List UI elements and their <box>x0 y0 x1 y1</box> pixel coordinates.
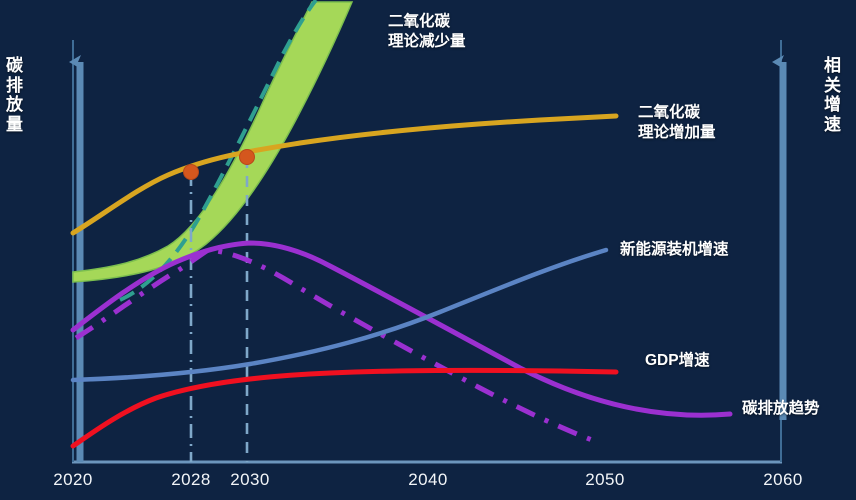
y-axis-left-label: 碳排放量 <box>6 56 23 135</box>
y-axis-right-label: 相关增速 <box>824 56 841 135</box>
annotation-co2-increase: 二氧化碳 理论增加量 <box>638 103 716 143</box>
annotation-new-energy: 新能源装机增速 <box>620 240 729 260</box>
x-tick-2060: 2060 <box>763 470 802 490</box>
annotation-co2-reduction: 二氧化碳 理论减少量 <box>388 12 466 52</box>
series-gdp <box>73 370 616 446</box>
marker-dot-2030[interactable] <box>240 150 255 165</box>
x-tick-2040: 2040 <box>408 470 447 490</box>
series-carbon-trend <box>73 243 730 415</box>
x-tick-2028: 2028 <box>171 470 210 490</box>
annotation-carbon-trend: 碳排放趋势 <box>742 399 820 419</box>
annotation-gdp: GDP增速 <box>645 351 710 371</box>
series-co2-increase <box>73 116 616 233</box>
x-tick-2020: 2020 <box>53 470 92 490</box>
marker-dot-2028[interactable] <box>184 165 199 180</box>
x-tick-2030: 2030 <box>230 470 269 490</box>
chart-canvas: 碳排放量 相关增速 二氧化碳 理论减少量 二氧化碳 理论增加量 新能源装机增速 … <box>0 0 856 500</box>
x-tick-2050: 2050 <box>585 470 624 490</box>
